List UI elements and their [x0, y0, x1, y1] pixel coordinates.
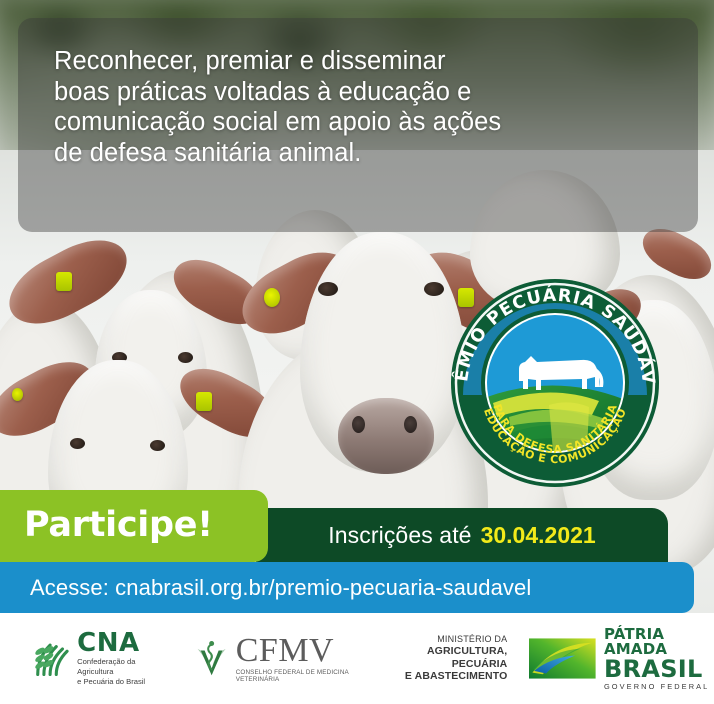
ministry-line1: MINISTÉRIO DA: [399, 634, 508, 645]
ear-tag: [264, 288, 280, 307]
url-text: Acesse: cnabrasil.org.br/premio-pecuaria…: [30, 575, 531, 601]
sponsor-footer: CNA Confederação da Agricultura e Pecuár…: [0, 613, 714, 704]
ministry-of-agriculture-logo: MINISTÉRIO DA AGRICULTURA, PECUÁRIA E AB…: [399, 634, 508, 683]
cfmv-logo: CFMV CONSELHO FEDERAL DE MEDICINA VETERI…: [193, 634, 358, 684]
cfmv-caduceus-icon: [193, 634, 230, 684]
ear-tag: [56, 272, 72, 291]
campaign-poster: Reconhecer, premiar e disseminar boas pr…: [0, 0, 714, 704]
cow-eye: [70, 438, 85, 449]
governo-federal-logo: PÁTRIA AMADA BRASIL GOVERNO FEDERAL: [529, 627, 714, 691]
ministry-line3: E ABASTECIMENTO: [399, 670, 508, 683]
cow-eye-left: [318, 282, 338, 296]
ministry-line2: AGRICULTURA, PECUÁRIA: [399, 645, 508, 670]
cfmv-name: CFMV: [236, 634, 359, 668]
brasil-line3: GOVERNO FEDERAL: [604, 682, 714, 691]
url-bar[interactable]: Acesse: cnabrasil.org.br/premio-pecuaria…: [0, 562, 694, 613]
cna-subtitle-line2: e Pecuária do Brasil: [77, 677, 151, 686]
cna-wheat-icon: [30, 635, 70, 683]
cna-subtitle-line1: Confederação da Agricultura: [77, 657, 151, 676]
ear-tag: [12, 388, 23, 401]
cow-eye-right: [178, 352, 193, 363]
cow-eye-right: [424, 282, 444, 296]
cow-nostril-left: [352, 416, 365, 433]
deadline-bar: Inscrições até 30.04.2021: [256, 508, 668, 562]
cow-eye: [150, 440, 165, 451]
participe-badge: Participe!: [0, 490, 268, 562]
cna-logo: CNA Confederação da Agricultura e Pecuár…: [30, 630, 151, 686]
cow-muzzle: [338, 398, 434, 474]
premio-pecuaria-saudavel-seal: PRÊMIO PECUÁRIA SAUDÁVEL EDUCAÇÃO E COMU…: [449, 277, 661, 489]
cow-nostril-right: [404, 416, 417, 433]
brasil-line1: PÁTRIA AMADA: [604, 627, 714, 657]
brasil-line2: BRASIL: [604, 657, 714, 682]
ear-tag: [196, 392, 212, 411]
brasil-flag-icon: [529, 635, 596, 682]
headline-text: Reconhecer, premiar e disseminar boas pr…: [54, 46, 664, 168]
cfmv-subtitle: CONSELHO FEDERAL DE MEDICINA VETERINÁRIA: [236, 669, 359, 683]
cna-name: CNA: [77, 630, 151, 656]
deadline-date: 30.04.2021: [481, 522, 596, 549]
participe-label: Participe!: [24, 505, 213, 545]
deadline-label: Inscrições até: [328, 522, 471, 549]
